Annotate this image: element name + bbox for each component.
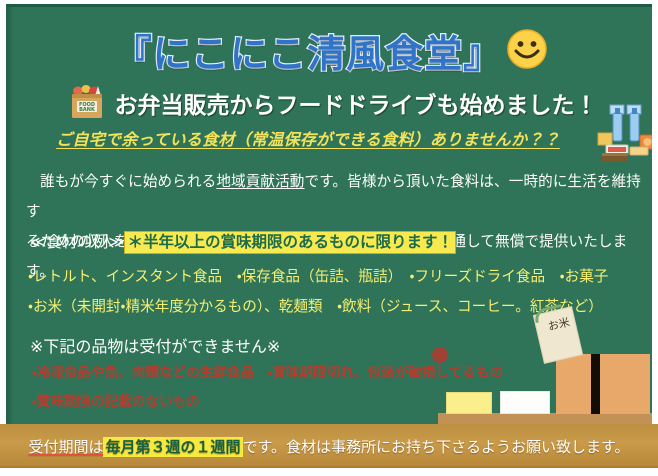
examples-highlight: ＊半年以上の賞味期限のあるものに限ります！ (124, 231, 456, 254)
examples-label: ≪食材の例≫ (30, 233, 124, 251)
cardboard-box-seam (591, 354, 600, 414)
examples-row: ・レトルト、インスタント食品 ・保存食品（缶詰、瓶詰） ・フリーズドライ食品 ・… (28, 262, 652, 292)
poster-root: 『にこにこ清風食堂』 FOOD BANK (0, 0, 658, 476)
rice-donation-illustration: お米 (438, 307, 652, 424)
decorative-dot (432, 347, 448, 363)
wooden-shelf (438, 413, 652, 424)
food-bank-bag-icon: FOOD BANK (65, 81, 109, 123)
banner-text: 受付期間は毎月第３週の１週間です。食材は事務所にお持ち下さるようお願い致します。 (0, 436, 658, 457)
banner-post: です。食材は事務所にお持ち下さるようお願い致します。 (243, 438, 630, 456)
body-line-1-underline: 地域貢献活動 (216, 173, 304, 190)
svg-text:BANK: BANK (79, 107, 96, 113)
banner-highlight: 毎月第３週の１週間 (103, 437, 242, 457)
title-row: 『にこにこ清風食堂』 (8, 23, 652, 78)
not-accepted-header: ※下記の品物は受付ができません※ (30, 333, 280, 357)
chalkboard-panel: 『にこにこ清風食堂』 FOOD BANK (6, 4, 652, 424)
bottom-banner: 受付期間は毎月第３週の１週間です。食材は事務所にお持ち下さるようお願い致します。 (0, 424, 658, 468)
body-line-1: 誰もが今すぐに始められる地域貢献活動です。皆様から頂いた食料は、一時的に生活を維… (26, 167, 646, 227)
subtitle-row: FOOD BANK お弁当販売からフードドライブも始めました！ (8, 81, 652, 125)
body-line-1-pre: 誰もが今すぐに始められる (40, 173, 216, 190)
cardboard-box-icon (556, 354, 650, 414)
lead-question-line: ご自宅で余っている食材（常温保存ができる食料）ありませんか？？ (8, 126, 608, 150)
white-package (500, 391, 550, 414)
yellow-package (446, 392, 492, 414)
subtitle-text: お弁当販売からフードドライブも始めました！ (115, 86, 598, 120)
food-donation-icon (596, 103, 652, 165)
examples-header: ≪食材の例≫＊半年以上の賞味期限のあるものに限ります！ (30, 231, 456, 253)
smiley-face-icon (506, 28, 548, 70)
page-title: 『にこにこ清風食堂』 (114, 23, 502, 78)
banner-pre: 受付期間は (28, 438, 103, 456)
banner-bottom-edge (0, 468, 658, 476)
